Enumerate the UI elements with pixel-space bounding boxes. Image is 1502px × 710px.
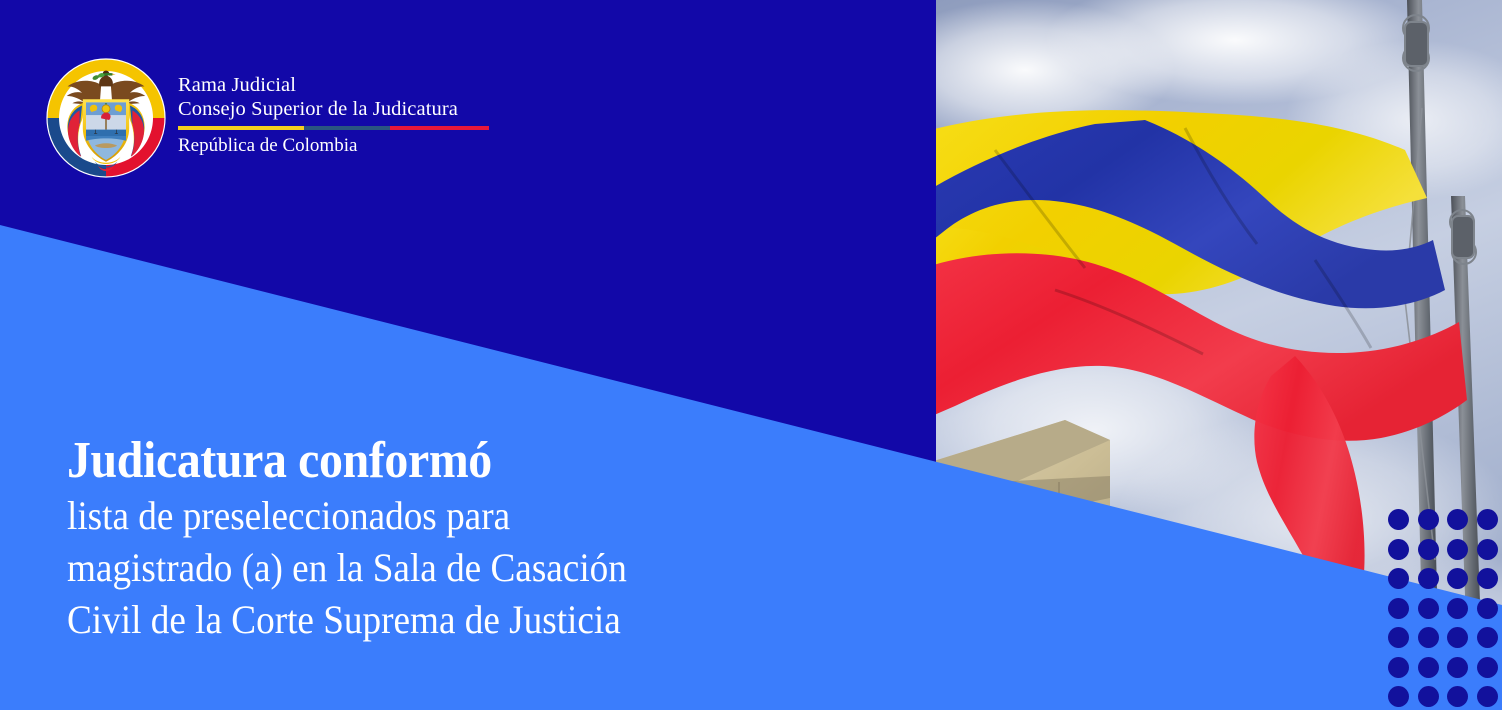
colombia-coat-of-arms-icon bbox=[45, 57, 167, 179]
decorative-dot bbox=[1447, 627, 1468, 648]
decorative-dot bbox=[1477, 657, 1498, 678]
rama-judicial-logo: Rama Judicial Consejo Superior de la Jud… bbox=[45, 57, 489, 179]
decorative-dot bbox=[1418, 539, 1439, 560]
decorative-dot bbox=[1447, 568, 1468, 589]
decorative-dot bbox=[1388, 657, 1409, 678]
decorative-dot bbox=[1388, 627, 1409, 648]
logo-line-republica-de-colombia: República de Colombia bbox=[178, 134, 489, 158]
decorative-dot bbox=[1477, 598, 1498, 619]
decorative-dot bbox=[1477, 686, 1498, 707]
decorative-dot-grid bbox=[1388, 509, 1502, 710]
judicial-news-banner: Rama Judicial Consejo Superior de la Jud… bbox=[0, 0, 1502, 710]
decorative-dot bbox=[1447, 509, 1468, 530]
decorative-dot bbox=[1447, 598, 1468, 619]
headline-primary: Judicatura conformó bbox=[67, 432, 693, 490]
decorative-dot bbox=[1418, 568, 1439, 589]
divider-segment-blue bbox=[304, 126, 390, 130]
decorative-dot bbox=[1477, 627, 1498, 648]
decorative-dot bbox=[1447, 539, 1468, 560]
headline-secondary-line-3: Civil de la Corte Suprema de Justicia bbox=[67, 594, 699, 646]
decorative-dot bbox=[1418, 598, 1439, 619]
divider-segment-red bbox=[390, 126, 489, 130]
decorative-dot bbox=[1447, 657, 1468, 678]
decorative-dot bbox=[1477, 568, 1498, 589]
decorative-dot bbox=[1388, 539, 1409, 560]
headline-secondary-line-1: lista de preseleccionados para bbox=[67, 490, 699, 542]
logo-line-rama-judicial: Rama Judicial bbox=[178, 73, 489, 97]
logo-line-consejo-superior: Consejo Superior de la Judicatura bbox=[178, 97, 489, 121]
divider-segment-yellow bbox=[178, 126, 304, 130]
tricolor-divider bbox=[178, 126, 489, 130]
decorative-dot bbox=[1418, 509, 1439, 530]
decorative-dot bbox=[1477, 509, 1498, 530]
decorative-dot bbox=[1418, 657, 1439, 678]
logo-wordmark: Rama Judicial Consejo Superior de la Jud… bbox=[178, 57, 489, 158]
decorative-dot bbox=[1418, 686, 1439, 707]
decorative-dot bbox=[1388, 598, 1409, 619]
decorative-dot bbox=[1418, 627, 1439, 648]
decorative-dot bbox=[1388, 568, 1409, 589]
decorative-dot bbox=[1477, 539, 1498, 560]
headline-block: Judicatura conformó lista de preseleccio… bbox=[67, 432, 747, 646]
headline-secondary-line-2: magistrado (a) en la Sala de Casación bbox=[67, 542, 699, 594]
decorative-dot bbox=[1388, 686, 1409, 707]
decorative-dot bbox=[1447, 686, 1468, 707]
decorative-dot bbox=[1388, 509, 1409, 530]
